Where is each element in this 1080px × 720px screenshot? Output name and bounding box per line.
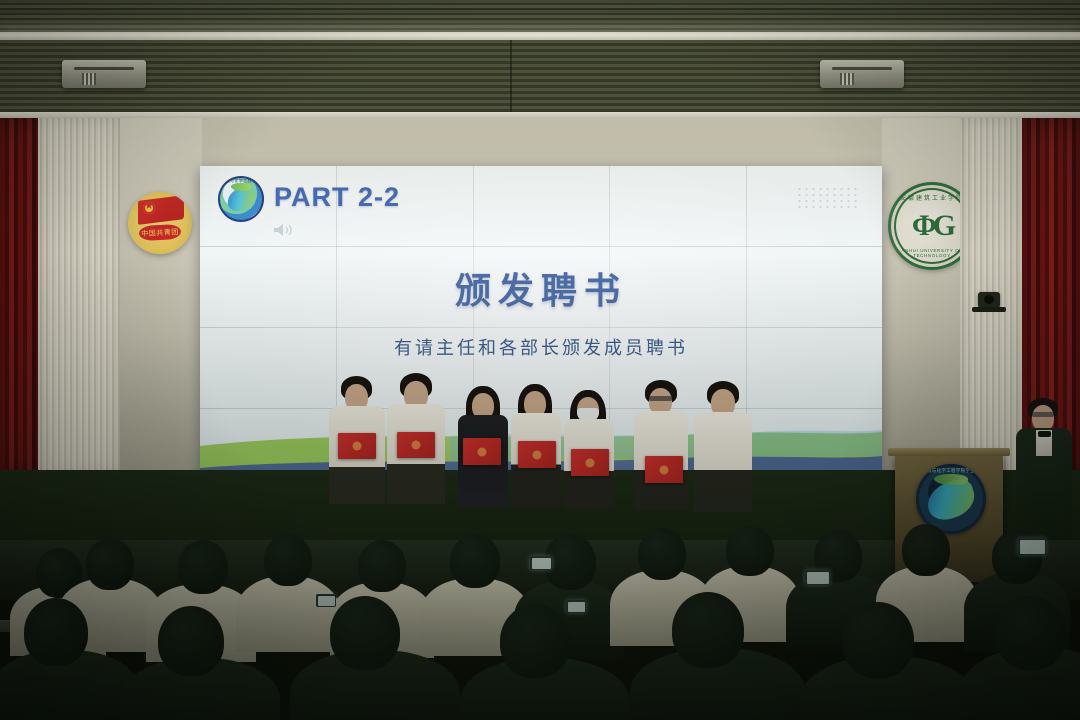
podium-top-surface	[888, 448, 1010, 456]
smartphone-camera[interactable]	[316, 594, 336, 607]
logo-leaf-shape	[231, 183, 251, 191]
panel-seam	[200, 327, 882, 328]
emblem-banner-text: 中国共青团	[139, 224, 182, 241]
wall-slat-panel-left	[38, 118, 120, 474]
slide-part-label: PART 2-2	[274, 182, 400, 213]
air-conditioning-vent	[62, 60, 146, 88]
smartphone-camera[interactable]	[805, 570, 830, 585]
head	[264, 534, 312, 586]
ceiling	[0, 0, 1080, 112]
bow-tie	[1038, 431, 1051, 437]
red-certificate	[645, 456, 683, 483]
head	[672, 592, 744, 668]
red-certificate	[463, 438, 501, 465]
smartphone-camera[interactable]	[530, 556, 552, 570]
phone-screen	[532, 558, 551, 569]
red-certificate	[571, 449, 609, 476]
crest-monogram: ΦG	[912, 209, 952, 243]
head	[842, 602, 914, 678]
camera-bracket	[972, 307, 1006, 312]
head	[450, 534, 500, 588]
head	[358, 540, 406, 592]
head	[330, 596, 400, 670]
torso	[694, 412, 752, 512]
smartphone-camera[interactable]	[1018, 538, 1046, 555]
wall-flat-right	[882, 118, 960, 474]
head	[24, 598, 88, 666]
wall-flat-left	[120, 118, 202, 474]
head	[638, 528, 686, 580]
stage-curtain-left	[0, 118, 38, 478]
camera-lens-icon	[984, 295, 994, 304]
head	[996, 596, 1066, 670]
glasses-icon	[1032, 412, 1054, 417]
dot-grid-decoration	[796, 186, 860, 210]
ceiling-light-strip	[0, 32, 1080, 40]
phone-screen	[1020, 540, 1045, 554]
head	[500, 604, 570, 678]
head	[902, 524, 950, 576]
communist-youth-league-emblem: 中国共青团	[128, 192, 192, 254]
star-icon	[143, 202, 155, 214]
slide-subtitle: 有请主任和各部长颁发成员聘书	[200, 334, 882, 360]
podium-emblem-text: 环境与化学工程学院学生会	[916, 468, 986, 474]
phone-screen	[807, 572, 829, 584]
phone-screen	[568, 602, 585, 612]
smartphone-camera[interactable]	[566, 600, 586, 613]
panel-seam	[200, 246, 882, 247]
logo-ring-text: 环境与化学工程学院	[218, 178, 264, 184]
ceiling-slats-lower	[0, 40, 1080, 112]
head	[726, 526, 774, 576]
air-conditioning-vent	[820, 60, 904, 88]
head	[86, 538, 134, 590]
head	[178, 540, 228, 594]
slide-organization-logo: 环境与化学工程学院	[218, 176, 264, 222]
slide-title: 颁发聘书	[200, 262, 882, 314]
phone-screen	[318, 596, 335, 606]
wall-mounted-camera	[978, 292, 1000, 308]
glasses-icon	[649, 396, 672, 401]
head	[158, 606, 224, 676]
audience-member	[236, 576, 340, 652]
ceiling-seam	[510, 40, 512, 112]
speaker-icon	[272, 222, 298, 238]
podium-leaf-shape	[934, 474, 968, 485]
auditorium-scene: 中国共青团 安徽建筑工业学院 ΦG ANHUI UNIVERSITY OF TE…	[0, 0, 1080, 720]
red-certificate	[338, 433, 376, 459]
red-certificate	[518, 441, 556, 468]
red-certificate	[397, 432, 435, 458]
